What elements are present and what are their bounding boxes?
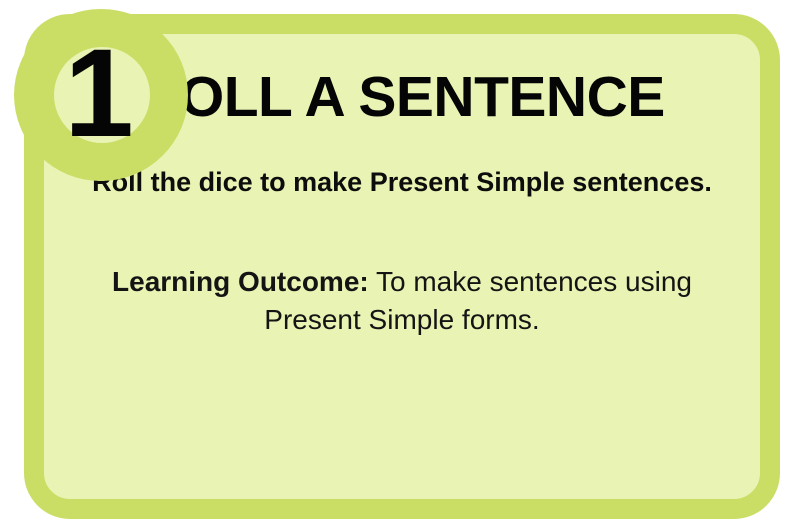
page-title: ROLL A SENTENCE	[132, 34, 672, 127]
learning-outcome-label: Learning Outcome:	[112, 266, 369, 297]
step-number-label: 1	[64, 31, 132, 156]
learning-outcome: Learning Outcome: To make sentences usin…	[62, 201, 742, 339]
card-subtitle: Roll the dice to make Present Simple sen…	[82, 127, 722, 201]
step-number-badge: 1	[14, 9, 188, 181]
